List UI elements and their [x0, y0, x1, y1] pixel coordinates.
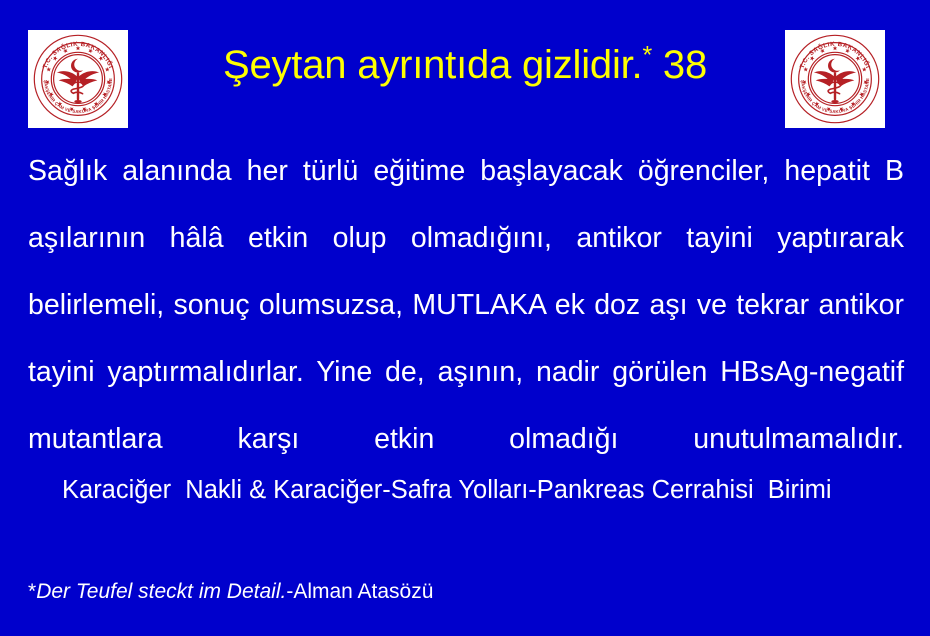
department-credit-line: Karaciğer Nakli & Karaciğer-Safra Yollar… — [62, 473, 872, 507]
footnote: *Der Teufel steckt im Detail.-Alman Atas… — [28, 578, 433, 606]
ministry-emblem-icon: T.C. SAĞLIK BAKANLIĞI BAŞAKŞEHİR ÇAM VE … — [789, 33, 881, 125]
slide-title-text: Şeytan ayrıntıda gizlidir. — [223, 43, 642, 87]
slide-canvas: T.C. SAĞLIK BAKANLIĞI BAŞAKŞEHİR ÇAM VE … — [0, 0, 930, 636]
footnote-marker: * — [642, 42, 652, 70]
ministry-logo-right: T.C. SAĞLIK BAKANLIĞI BAŞAKŞEHİR ÇAM VE … — [785, 30, 885, 128]
ministry-emblem-icon: T.C. SAĞLIK BAKANLIĞI BAŞAKŞEHİR ÇAM VE … — [32, 33, 124, 125]
ministry-logo-left: T.C. SAĞLIK BAKANLIĞI BAŞAKŞEHİR ÇAM VE … — [28, 30, 128, 128]
slide-title: Şeytan ayrıntıda gizlidir.* 38 — [150, 44, 780, 86]
footnote-source: -Alman Atasözü — [286, 580, 433, 603]
slide-number: 38 — [652, 43, 707, 87]
footnote-asterisk: * — [28, 580, 36, 603]
footnote-quote: Der Teufel steckt im Detail. — [36, 580, 286, 603]
